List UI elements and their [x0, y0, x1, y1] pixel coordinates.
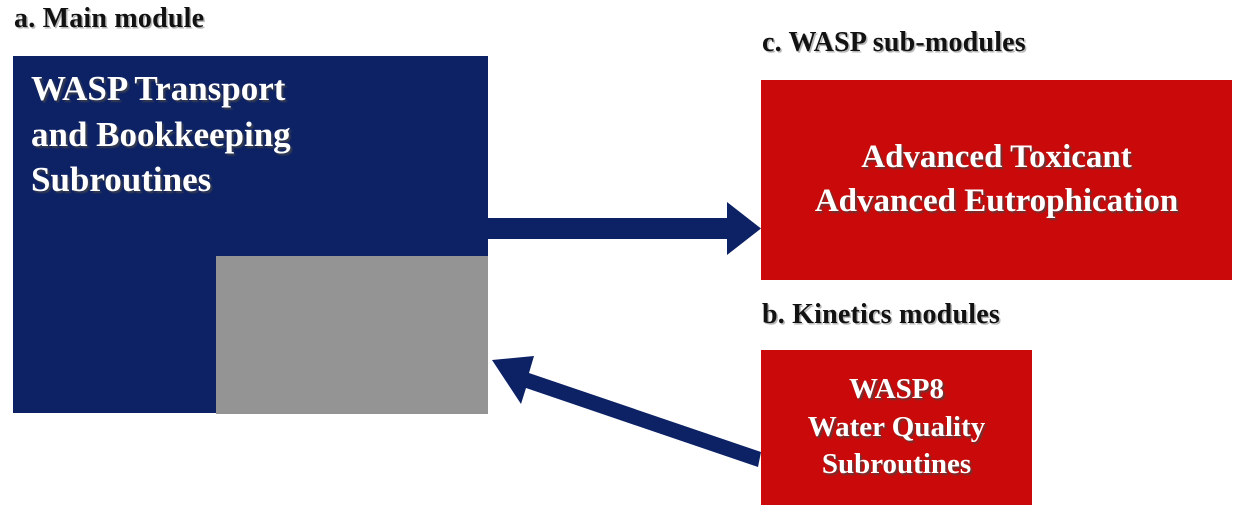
main-module-label: WASP Transport and Bookkeeping Subroutin…	[31, 66, 471, 203]
wasp-sub-modules-label: Advanced Toxicant Advanced Eutrophicatio…	[761, 136, 1232, 223]
caption-kinetics-modules: b. Kinetics modules	[762, 300, 1000, 329]
gray-panel[interactable]	[216, 256, 488, 414]
wasp-sub-modules-box[interactable]: Advanced Toxicant Advanced Eutrophicatio…	[761, 80, 1232, 280]
arrow-main-to-submodules-icon	[486, 202, 761, 255]
kinetics-modules-label: WASP8 Water Quality Subroutines	[761, 371, 1032, 484]
kinetics-modules-box[interactable]: WASP8 Water Quality Subroutines	[761, 350, 1032, 505]
diagram-canvas: a. Main module c. WASP sub-modules b. Ki…	[0, 0, 1242, 515]
arrow-kinetics-to-main-icon	[492, 356, 761, 467]
caption-wasp-sub-modules: c. WASP sub-modules	[762, 28, 1026, 57]
caption-main-module: a. Main module	[14, 4, 204, 33]
